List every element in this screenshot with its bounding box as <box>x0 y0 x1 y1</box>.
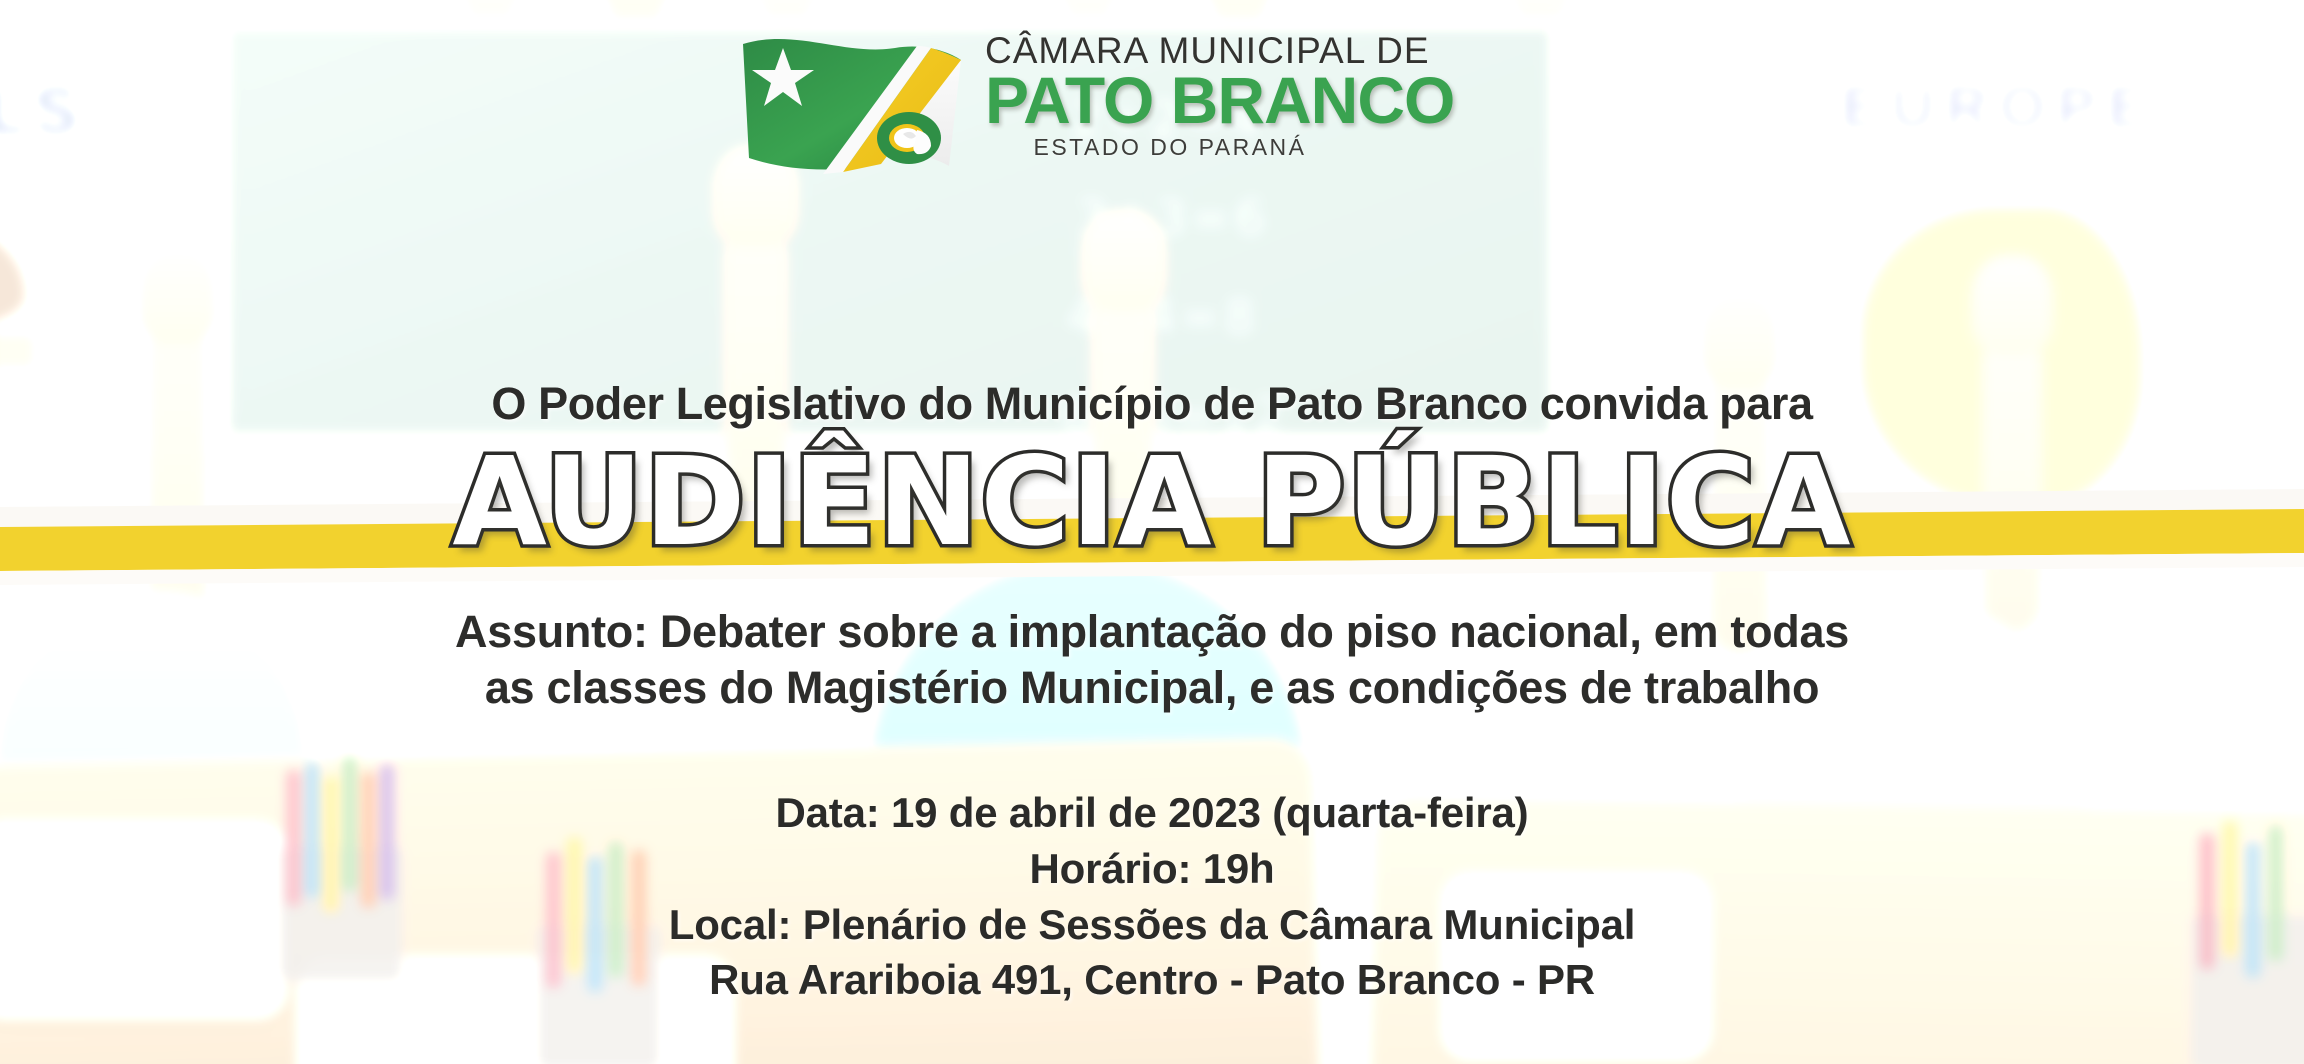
event-date: Data: 19 de abril de 2023 (quarta-feira) <box>0 786 2304 840</box>
banner-content: O Poder Legislativo do Município de Pato… <box>0 0 2304 1064</box>
event-place: Local: Plenário de Sessões da Câmara Mun… <box>0 898 2304 952</box>
subject-block: Assunto: Debater sobre a implantação do … <box>0 604 2304 717</box>
event-details-block: Data: 19 de abril de 2023 (quarta-feira)… <box>0 786 2304 1009</box>
event-time: Horário: 19h <box>0 842 2304 896</box>
audiencia-publica-banner: 2+2=4 3+3=6 4+4=8 6+6=12 MALS EUROPE <box>0 0 2304 1064</box>
invite-line: O Poder Legislativo do Município de Pato… <box>0 378 2304 430</box>
event-address: Rua Arariboia 491, Centro - Pato Branco … <box>0 953 2304 1007</box>
hero-title: AUDIÊNCIA PÚBLICA <box>0 438 2304 566</box>
subject-line-2: as classes do Magistério Municipal, e as… <box>0 660 2304 716</box>
subject-line-1: Assunto: Debater sobre a implantação do … <box>0 604 2304 660</box>
